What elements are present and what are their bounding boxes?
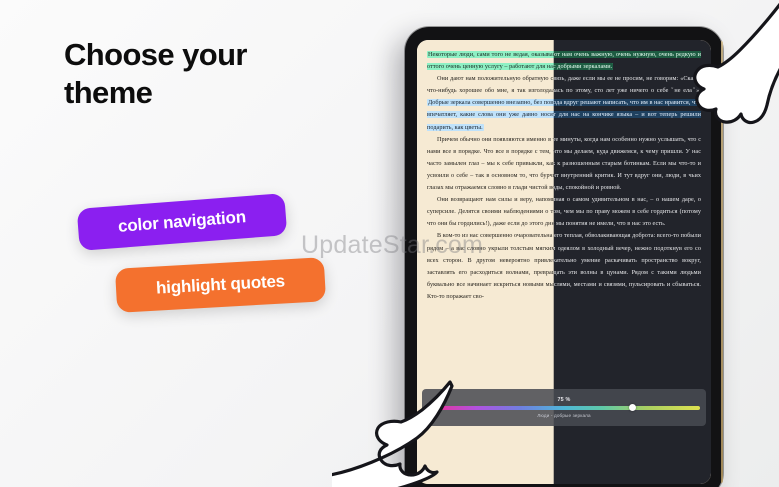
page-title: Choose your theme [64, 36, 364, 112]
badge-color-navigation[interactable]: color navigation [77, 193, 288, 251]
pointing-hand-icon [332, 378, 482, 487]
promo-screenshot: Choose your theme color navigation highl… [0, 0, 779, 487]
slider-thumb[interactable] [629, 404, 636, 411]
slider-caption: Люди - добрые зеркала [537, 413, 590, 418]
badge-label: highlight quotes [156, 271, 286, 298]
slider-percent-label: 75 % [557, 397, 570, 403]
pointing-hand-icon [688, 0, 779, 134]
badge-label: color navigation [117, 207, 246, 237]
badge-highlight-quotes[interactable]: highlight quotes [115, 257, 326, 313]
